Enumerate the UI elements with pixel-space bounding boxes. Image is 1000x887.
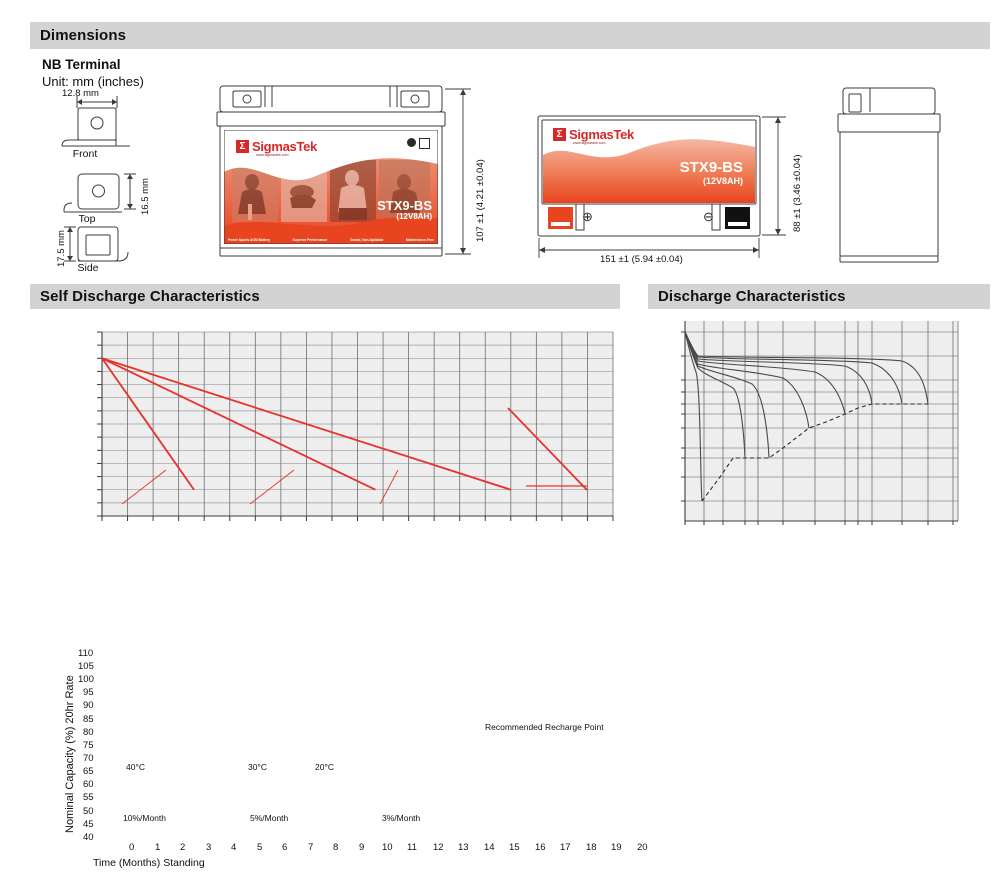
x-tick-label: 13	[458, 842, 469, 853]
x-tick-label: 20	[637, 842, 648, 853]
x-tick-label: 19	[611, 842, 622, 853]
discharge-chart: Loading Voltage (V)	[640, 316, 1000, 576]
y-tick-label: 45	[83, 819, 94, 830]
y-tick-label: 65	[83, 766, 94, 777]
x-tick-label: 18	[586, 842, 597, 853]
terminal-view-side: Side	[63, 262, 113, 274]
y-tick-label: 40	[83, 832, 94, 843]
battery-label-top: Σ SigmasTek www.sigmastek.com STX9-BS (1…	[543, 121, 755, 203]
y-tick-label: 55	[83, 792, 94, 803]
datasheet-page: Dimensions NB Terminal Unit: mm (inches)	[0, 0, 1000, 580]
terminal-view-front: Front	[60, 148, 110, 160]
terminal-minus-icon: ⊖	[703, 209, 714, 225]
section-title-self-discharge: Self Discharge Characteristics	[30, 288, 260, 305]
battery-side-view	[825, 86, 965, 266]
battery-capacity-front: (12V8AH)	[396, 212, 432, 221]
battery-width-dimension: 151 ±1 (5.94 ±0.04)	[600, 254, 683, 265]
y-tick-label: 60	[83, 779, 94, 790]
y-tick-label: 95	[83, 687, 94, 698]
terminal-view-top: Top	[62, 213, 112, 225]
battery-front-view: Σ SigmasTek www.sigmastek.com STX9-BS (1…	[215, 84, 480, 264]
x-tick-label: 10	[382, 842, 393, 853]
x-tick-label: 17	[560, 842, 571, 853]
y-tick-label: 110	[78, 648, 93, 659]
brand-url-front: www.sigmastek.com	[256, 153, 289, 157]
y-tick-label: 80	[83, 727, 94, 738]
self-discharge-plot	[30, 318, 620, 568]
x-tick-label: 9	[359, 842, 364, 853]
x-tick-label: 7	[308, 842, 313, 853]
x-tick-label: 15	[509, 842, 520, 853]
feature-item: Power Sports AGM Battery	[228, 238, 270, 242]
feature-item: Maintenance-Free	[406, 238, 434, 242]
annotation-recharge-point: Recommended Recharge Point	[485, 722, 604, 732]
terminal-width-dimension: 12.8 mm	[62, 88, 99, 99]
brand-url-top: www.sigmastek.com	[573, 141, 606, 145]
brand-name-top: SigmasTek	[569, 127, 634, 142]
annotation-rate-5pct: 5%/Month	[250, 813, 288, 823]
battery-top-view: Σ SigmasTek www.sigmastek.com STX9-BS (1…	[520, 112, 810, 262]
y-tick-label: 75	[83, 740, 94, 751]
x-tick-label: 14	[484, 842, 495, 853]
sigma-logo-icon: Σ	[236, 140, 249, 153]
y-tick-label: 105	[78, 661, 94, 672]
x-tick-label: 5	[257, 842, 262, 853]
caution-icon	[419, 138, 430, 149]
battery-features-strip: Power Sports AGM Battery Superior Perfor…	[228, 238, 434, 242]
terminal-plus-icon: ⊕	[582, 209, 593, 225]
x-tick-label: 4	[231, 842, 236, 853]
x-tick-label: 3	[206, 842, 211, 853]
x-tick-label: 6	[282, 842, 287, 853]
terminal-positive-slot	[551, 222, 570, 226]
annotation-temp-30: 30°C	[248, 762, 267, 772]
annotation-rate-10pct: 10%/Month	[123, 813, 166, 823]
battery-model-front: STX9-BS	[377, 198, 432, 213]
terminal-top-dimension: 16.5 mm	[140, 178, 151, 215]
feature-item: Sealed, Non-Spillable	[350, 238, 384, 242]
feature-item: Superior Performance	[293, 238, 328, 242]
battery-capacity-top: (12V8AH)	[703, 176, 743, 186]
battery-label-front: Σ SigmasTek www.sigmastek.com STX9-BS (1…	[224, 130, 438, 244]
annotation-temp-40: 40°C	[126, 762, 145, 772]
section-header-self-discharge: Self Discharge Characteristics	[30, 284, 620, 309]
sigma-logo-icon: Σ	[553, 128, 566, 141]
self-discharge-x-axis-title: Time (Months) Standing	[93, 857, 205, 869]
y-tick-label: 85	[83, 714, 94, 725]
brand-name-front: SigmasTek	[252, 139, 317, 154]
battery-brand-lockup-top: Σ SigmasTek	[553, 127, 634, 142]
battery-depth-dimension: 88 ±1 (3.46 ±0.04)	[792, 154, 803, 232]
self-discharge-chart: Nominal Capacity (%) 20hr Rate	[30, 318, 620, 568]
annotation-rate-3pct: 3%/Month	[382, 813, 420, 823]
y-tick-label: 100	[78, 674, 94, 685]
annotation-temp-20: 20°C	[315, 762, 334, 772]
terminal-negative-slot	[728, 222, 747, 226]
section-header-discharge: Discharge Characteristics	[648, 284, 990, 309]
x-tick-label: 0	[129, 842, 134, 853]
x-tick-label: 12	[433, 842, 444, 853]
y-tick-label: 70	[83, 753, 94, 764]
x-tick-label: 2	[180, 842, 185, 853]
discharge-plot	[640, 316, 1000, 576]
self-discharge-y-axis-title: Nominal Capacity (%) 20hr Rate	[64, 675, 76, 833]
x-tick-label: 11	[407, 842, 417, 853]
x-tick-label: 1	[155, 842, 160, 853]
section-header-dimensions: Dimensions	[30, 22, 990, 49]
section-title-discharge: Discharge Characteristics	[648, 288, 846, 305]
y-tick-label: 50	[83, 806, 94, 817]
x-tick-label: 16	[535, 842, 546, 853]
y-tick-label: 90	[83, 700, 94, 711]
section-title-dimensions: Dimensions	[30, 27, 126, 44]
battery-brand-lockup-front: Σ SigmasTek	[236, 139, 317, 154]
terminal-unit-note: Unit: mm (inches)	[42, 74, 144, 89]
recycle-icon	[407, 138, 416, 147]
battery-height-dimension: 107 ±1 (4.21 ±0.04)	[475, 159, 486, 242]
terminal-heading: NB Terminal	[42, 57, 121, 72]
battery-model-top: STX9-BS	[680, 159, 743, 176]
x-tick-label: 8	[333, 842, 338, 853]
